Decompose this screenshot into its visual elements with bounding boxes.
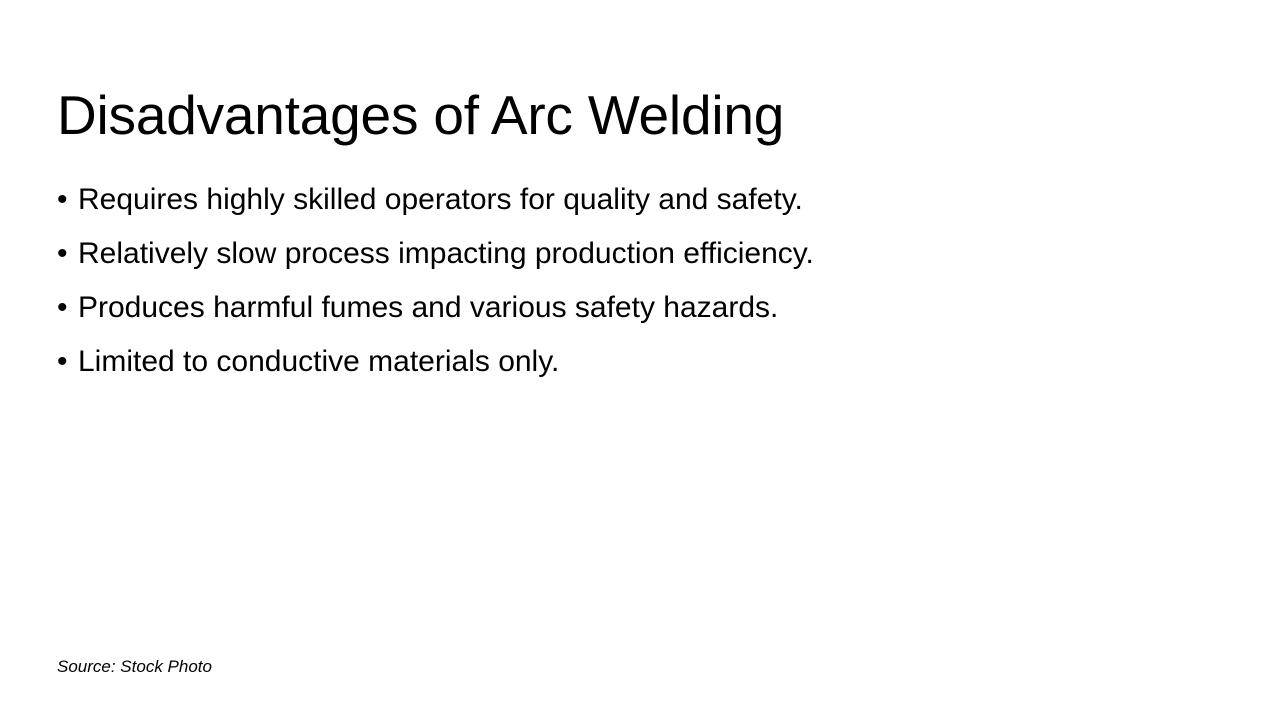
list-item: • Produces harmful fumes and various saf… [57,293,1187,347]
bullet-list: • Requires highly skilled operators for … [57,185,1187,401]
bullet-point-icon: • [57,185,78,215]
list-item: • Limited to conductive materials only. [57,347,1187,401]
bullet-point-icon: • [57,347,78,377]
source-credit: Source: Stock Photo [57,657,212,677]
list-item-label: Limited to conductive materials only. [78,347,1187,377]
list-item-label: Produces harmful fumes and various safet… [78,293,1187,323]
page-title: Disadvantages of Arc Welding [57,85,1177,147]
list-item: • Relatively slow process impacting prod… [57,239,1187,293]
bullet-point-icon: • [57,293,78,323]
list-item-label: Requires highly skilled operators for qu… [78,185,1187,215]
list-item: • Requires highly skilled operators for … [57,185,1187,239]
list-item-label: Relatively slow process impacting produc… [78,239,1187,269]
bullet-point-icon: • [57,239,78,269]
slide-canvas: Disadvantages of Arc Welding • Requires … [0,0,1280,720]
